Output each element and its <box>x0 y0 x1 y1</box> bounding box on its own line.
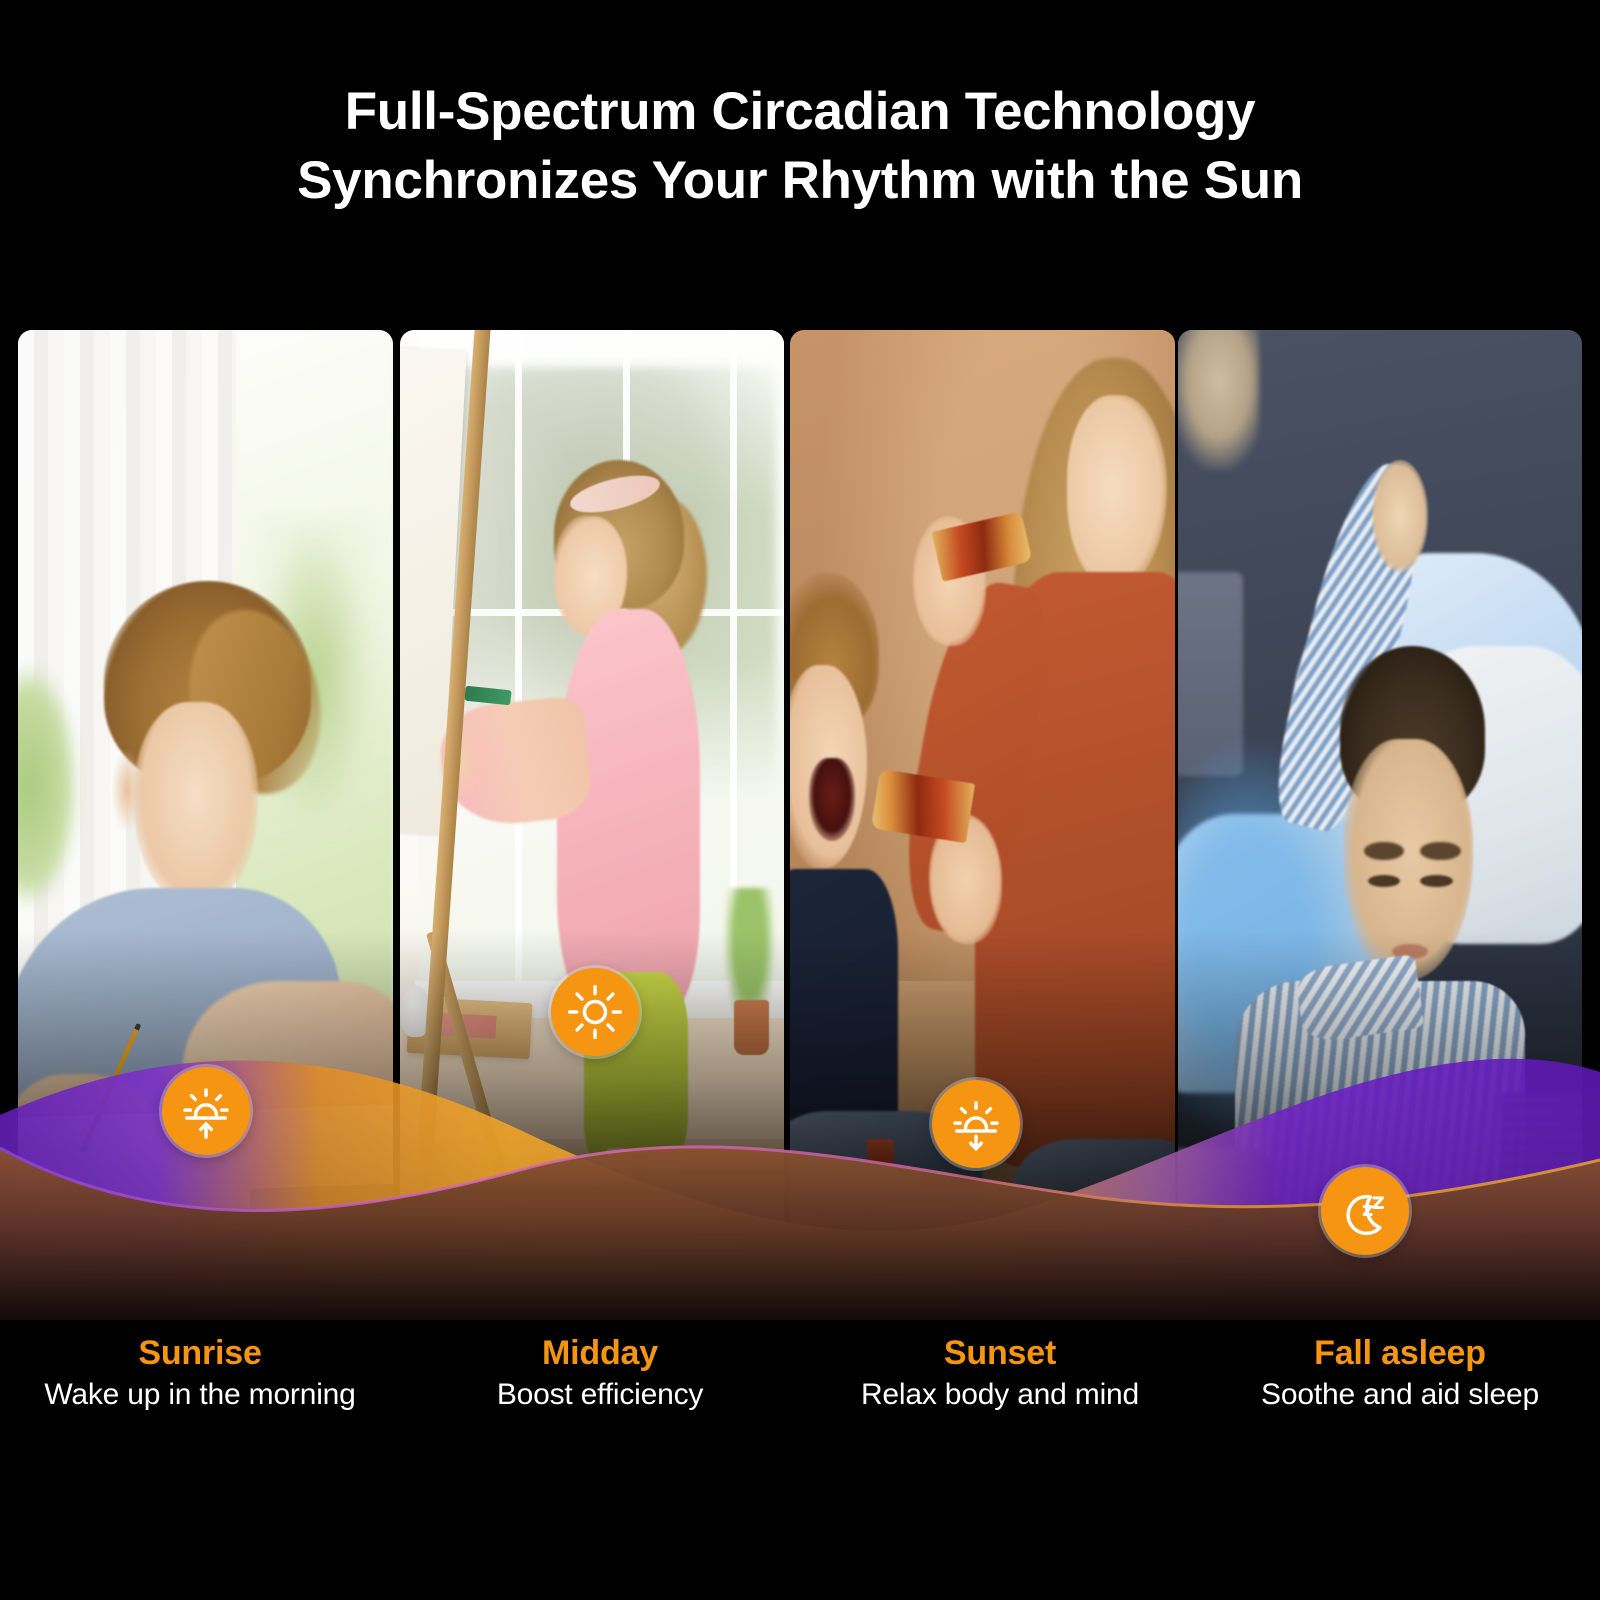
photo-panel-midday <box>400 330 784 1260</box>
caption-subtitle: Soothe and aid sleep <box>1200 1377 1600 1414</box>
moon-sleep-icon <box>1337 1183 1393 1239</box>
caption-fall-asleep: Fall asleep Soothe and aid sleep <box>1200 1333 1600 1473</box>
caption-sunrise: Sunrise Wake up in the morning <box>0 1333 400 1473</box>
caption-subtitle: Relax body and mind <box>800 1377 1200 1414</box>
sunset-icon <box>948 1096 1004 1152</box>
sun-icon <box>567 984 623 1040</box>
sunset-badge[interactable] <box>932 1080 1020 1168</box>
caption-title: Sunset <box>800 1333 1200 1373</box>
caption-subtitle: Wake up in the morning <box>0 1377 400 1414</box>
page-title-line-1: Full-Spectrum Circadian Technology <box>0 78 1600 147</box>
caption-title: Sunrise <box>0 1333 400 1373</box>
fall-asleep-badge[interactable] <box>1321 1167 1409 1255</box>
page-title: Full-Spectrum Circadian Technology Synch… <box>0 78 1600 216</box>
caption-row: Sunrise Wake up in the morning Midday Bo… <box>0 1333 1600 1473</box>
caption-subtitle: Boost efficiency <box>400 1377 800 1414</box>
photo-panel-strip <box>18 330 1582 1260</box>
sunrise-badge[interactable] <box>162 1067 250 1155</box>
sunrise-icon <box>178 1083 234 1139</box>
caption-title: Midday <box>400 1333 800 1373</box>
caption-title: Fall asleep <box>1200 1333 1600 1373</box>
photo-panel-fall-asleep <box>1178 330 1582 1260</box>
midday-badge[interactable] <box>551 968 639 1056</box>
page-title-line-2: Synchronizes Your Rhythm with the Sun <box>0 147 1600 216</box>
caption-sunset: Sunset Relax body and mind <box>800 1333 1200 1473</box>
caption-midday: Midday Boost efficiency <box>400 1333 800 1473</box>
